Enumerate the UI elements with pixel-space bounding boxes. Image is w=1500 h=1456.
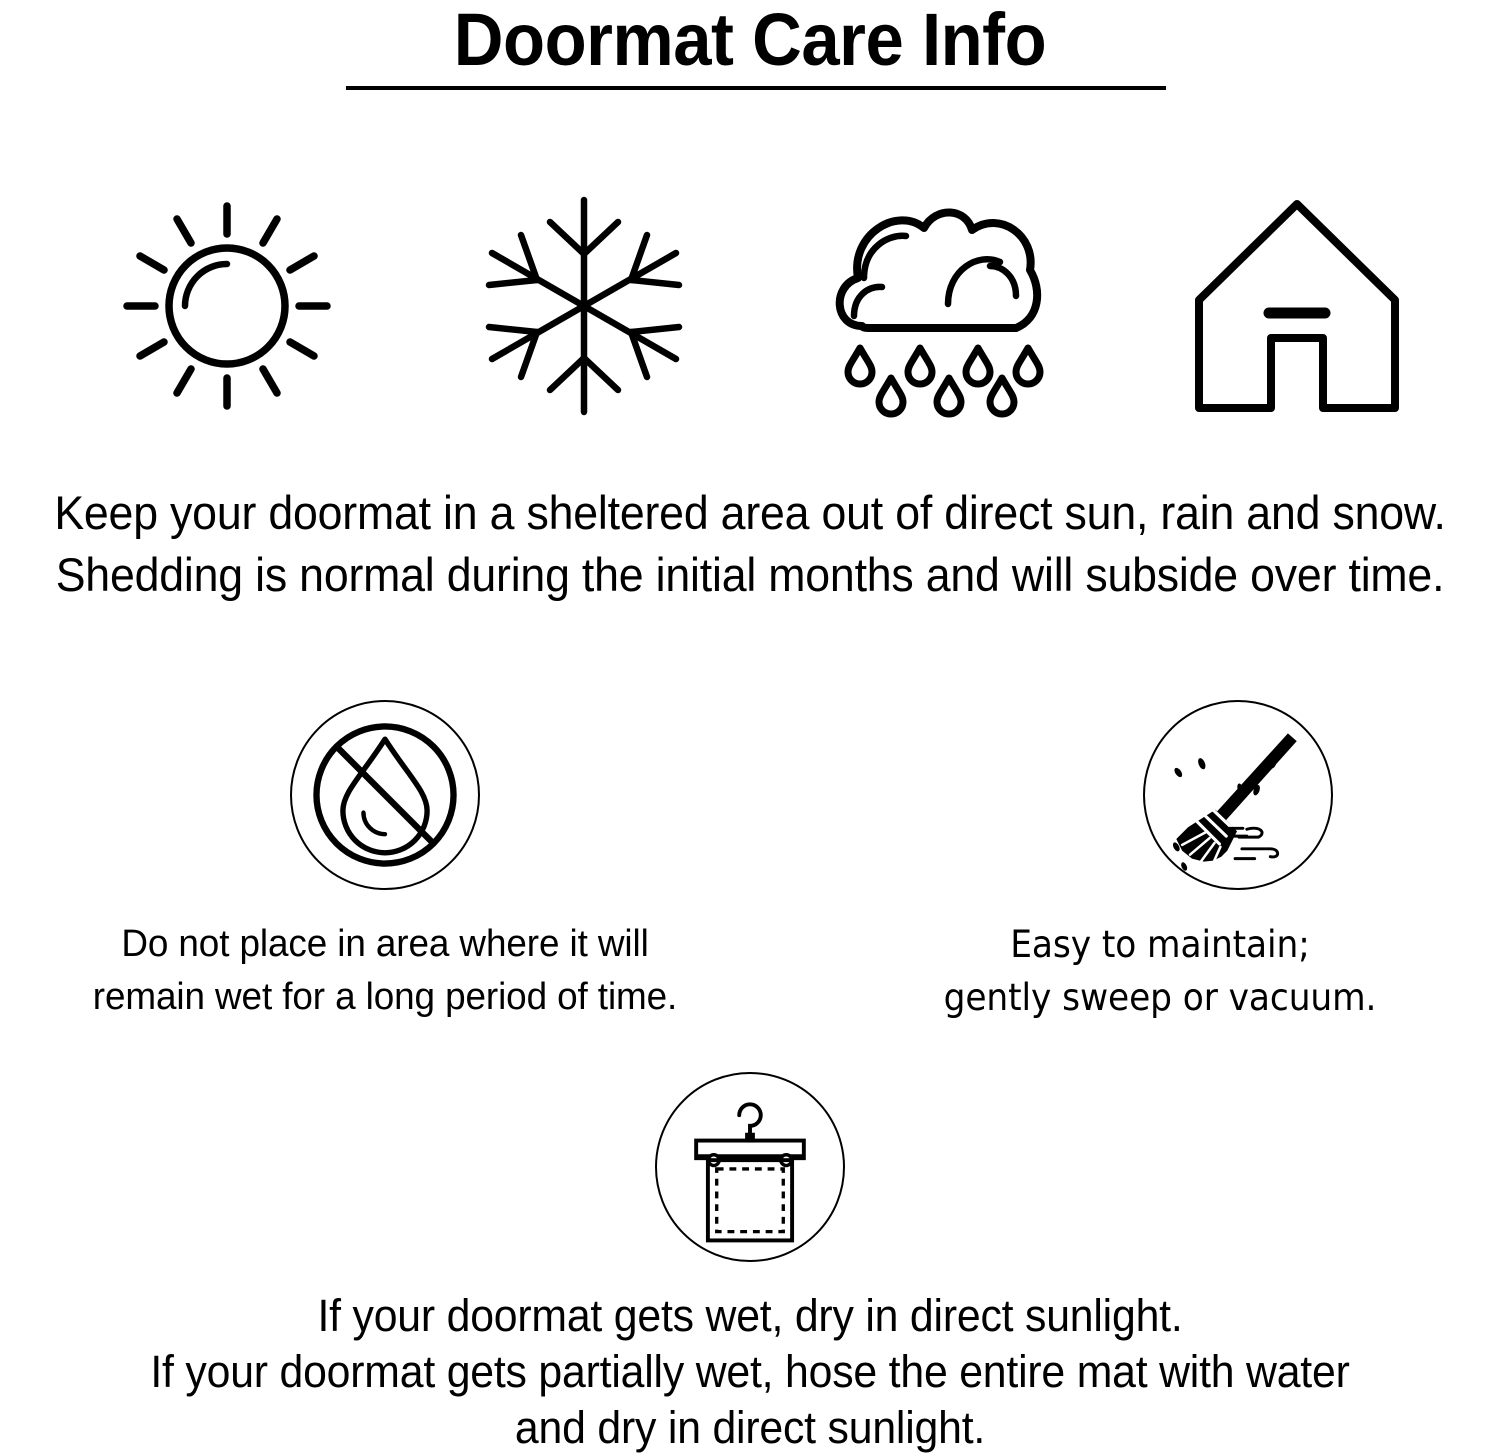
lead-paragraph-line-1: Keep your doormat in a sheltered area ou… (38, 482, 1463, 544)
caption-line-1: Do not place in area where it will (12, 918, 759, 971)
title-divider-rule (346, 86, 1166, 90)
care-badge-no-water-caption: Do not place in area where it will remai… (0, 918, 770, 1024)
caption-line-3: and dry in direct sunlight. (38, 1400, 1463, 1456)
snowflake-icon (464, 186, 704, 426)
no-water-icon (290, 700, 480, 890)
care-badge-easy-maintain: Easy to maintain; gently sweep or vacuum… (860, 700, 1460, 1024)
care-badge-easy-maintain-caption: Easy to maintain; gently sweep or vacuum… (860, 918, 1460, 1024)
lead-paragraph-line-2: Shedding is normal during the initial mo… (38, 544, 1463, 606)
caption-line-2: If your doormat gets partially wet, hose… (38, 1344, 1463, 1400)
caption-line-1: If your doormat gets wet, dry in direct … (38, 1288, 1463, 1344)
rain-cloud-icon (820, 186, 1060, 426)
lead-paragraph: Keep your doormat in a sheltered area ou… (0, 482, 1500, 606)
hang-to-dry-icon (655, 1072, 845, 1262)
house-icon (1177, 186, 1417, 426)
care-badge-no-water: Do not place in area where it will remai… (0, 700, 770, 1024)
sun-icon (107, 186, 347, 426)
drying-instructions-caption: If your doormat gets wet, dry in direct … (0, 1288, 1500, 1456)
broom-sweeping-icon (1143, 700, 1333, 890)
page-title: Doormat Care Info (53, 0, 1448, 78)
caption-line-1: Easy to maintain; (881, 918, 1439, 971)
caption-line-2: gently sweep or vacuum. (881, 971, 1439, 1024)
caption-line-2: remain wet for a long period of time. (12, 971, 759, 1024)
drying-instructions-block: If your doormat gets wet, dry in direct … (0, 1072, 1500, 1456)
header: Doormat Care Info (0, 0, 1500, 78)
weather-icon-row (0, 186, 1500, 426)
